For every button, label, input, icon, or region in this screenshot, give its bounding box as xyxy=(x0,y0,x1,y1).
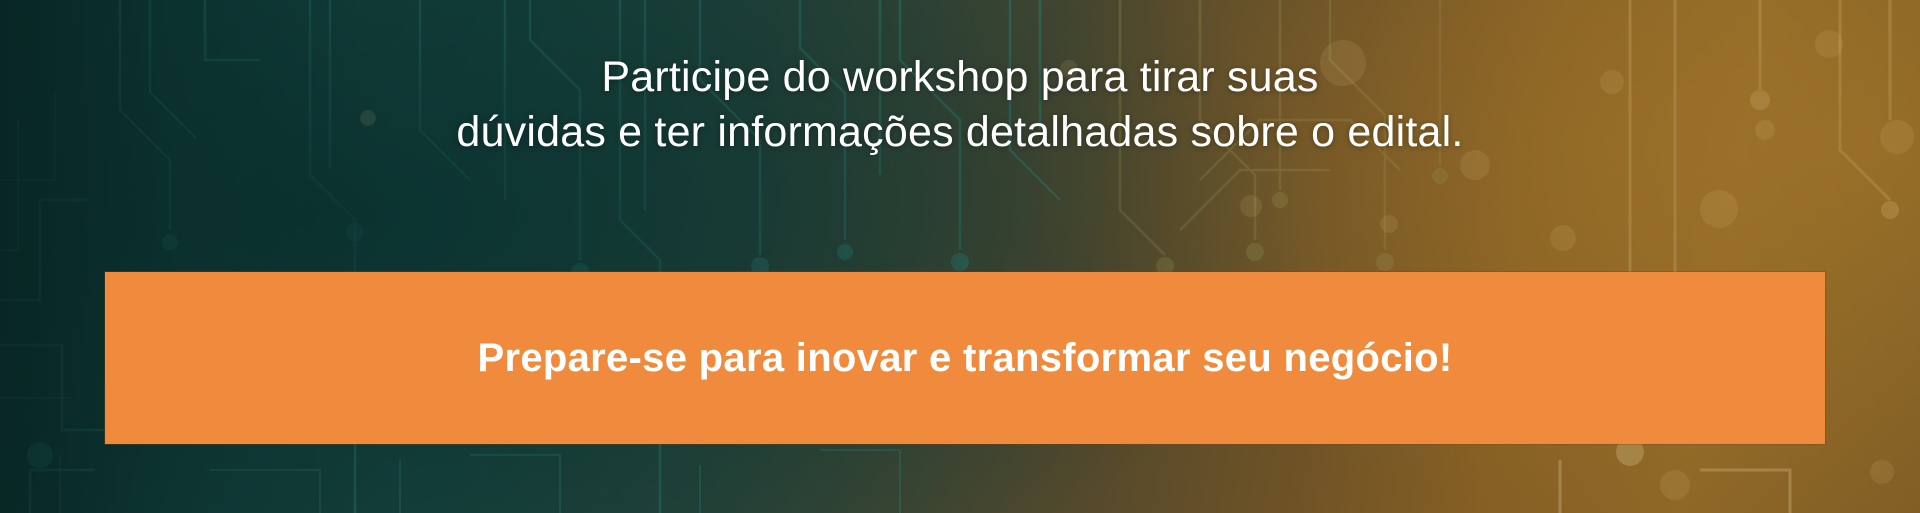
promo-banner: Participe do workshop para tirar suas dú… xyxy=(0,0,1920,513)
headline-line-1: Participe do workshop para tirar suas xyxy=(0,50,1920,105)
cta-button[interactable]: Prepare-se para inovar e transformar seu… xyxy=(105,272,1825,444)
headline-line-2: dúvidas e ter informações detalhadas sob… xyxy=(0,105,1920,160)
cta-button-label: Prepare-se para inovar e transformar seu… xyxy=(477,336,1452,381)
headline: Participe do workshop para tirar suas dú… xyxy=(0,50,1920,160)
